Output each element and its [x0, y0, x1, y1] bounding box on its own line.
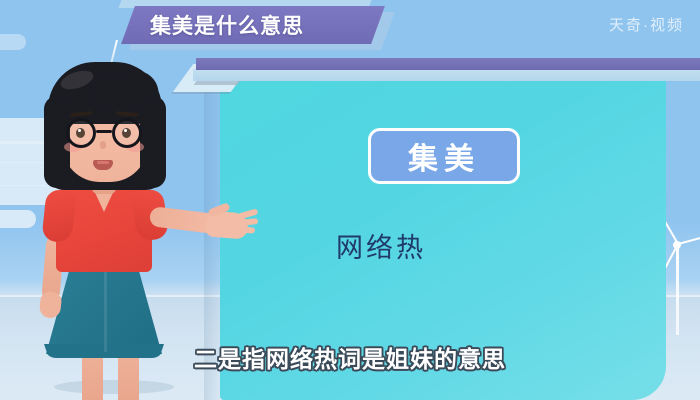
glasses-icon [112, 118, 142, 148]
keyword-box-label: 集美 [408, 134, 480, 178]
character-hair-side-right [140, 96, 166, 188]
glasses-icon [66, 118, 96, 148]
glasses-bridge-icon [96, 130, 112, 133]
character-hair-side-left [44, 96, 70, 188]
whiteboard-top-frame [196, 58, 700, 70]
whiteboard-lip [193, 69, 700, 81]
subtitle-caption: 二是指网络热词是姐妹的意思 [0, 340, 700, 374]
character-finger [240, 218, 259, 226]
wind-turbine-icon [676, 243, 679, 335]
channel-watermark: 天奇·视频 [609, 14, 684, 35]
character-skirt-fold [104, 262, 107, 352]
character-ground-shadow [54, 380, 174, 394]
whiteboard-body-text: 网络热 [336, 226, 426, 265]
character-mouth-highlight [97, 161, 109, 164]
character-finger [239, 226, 255, 233]
video-frame: 集美 网络热 集美是什么意思 天奇·视频 [0, 0, 700, 400]
character-nose [100, 141, 106, 149]
keyword-box: 集美 [368, 128, 520, 184]
wind-turbine-hub-icon [673, 241, 681, 249]
